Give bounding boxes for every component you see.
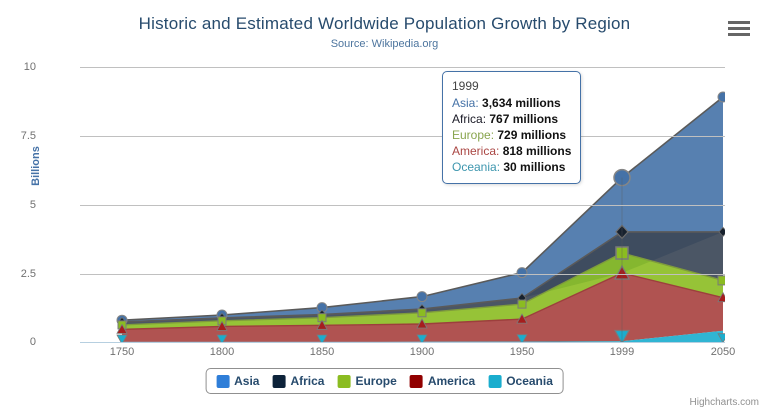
tooltip-row-africa: Africa: 767 millions (452, 111, 571, 127)
legend-item-oceania[interactable]: Oceania (488, 374, 553, 388)
legend-swatch-oceania (488, 375, 501, 388)
point-asia-2050[interactable] (718, 92, 725, 102)
legend-label-africa: Africa (290, 374, 324, 388)
legend-item-europe[interactable]: Europe (337, 374, 396, 388)
y-tick-label: 10 (0, 61, 36, 73)
x-tick-label: 2050 (688, 346, 758, 358)
tooltip-row-america: America: 818 millions (452, 143, 571, 159)
legend-swatch-america (410, 375, 423, 388)
point-asia-1950[interactable] (517, 268, 527, 278)
tooltip-key-oceania: Oceania (452, 160, 497, 174)
tooltip-value-africa: 767 millions (489, 112, 558, 126)
x-tick-label: 1999 (587, 346, 657, 358)
tooltip: 1999 Asia: 3,634 millions Africa: 767 mi… (442, 71, 581, 184)
point-asia-1900[interactable] (417, 292, 427, 302)
hamburger-menu-icon[interactable] (726, 18, 752, 38)
tooltip-key-asia: Asia (452, 96, 475, 110)
legend-label-oceania: Oceania (506, 374, 553, 388)
legend-label-europe: Europe (355, 374, 396, 388)
point-europe-2050[interactable] (718, 276, 725, 285)
x-tick-label: 1800 (187, 346, 257, 358)
menu-bar-2 (728, 27, 750, 30)
gridline-10 (80, 67, 725, 68)
x-tick-label: 1750 (87, 346, 157, 358)
plot-area (80, 67, 725, 342)
gridline-7-5 (80, 136, 725, 137)
legend-swatch-europe (337, 375, 350, 388)
tooltip-row-oceania: Oceania: 30 millions (452, 159, 571, 175)
legend-label-america: America (428, 374, 475, 388)
chart-legend: Asia Africa Europe America Oceania (205, 368, 564, 394)
legend-swatch-asia (216, 375, 229, 388)
tooltip-value-asia: 3,634 millions (482, 96, 561, 110)
tooltip-key-europe: Europe (452, 128, 491, 142)
y-tick-label: 7.5 (0, 130, 36, 142)
tooltip-row-asia: Asia: 3,634 millions (452, 95, 571, 111)
credits-link[interactable]: Highcharts.com (690, 397, 759, 408)
chart-subtitle: Source: Wikipedia.org (0, 38, 769, 50)
gridline-0 (80, 342, 725, 343)
tooltip-header: 1999 (452, 78, 571, 95)
tooltip-value-oceania: 30 millions (503, 160, 565, 174)
menu-bar-3 (728, 33, 750, 36)
tooltip-key-america: America (452, 144, 496, 158)
legend-item-africa[interactable]: Africa (272, 374, 324, 388)
gridline-2-5 (80, 274, 725, 275)
y-tick-label: 5 (0, 199, 36, 211)
y-tick-label: 0 (0, 336, 36, 348)
gridline-5 (80, 205, 725, 206)
legend-label-asia: Asia (234, 374, 259, 388)
point-europe-1900[interactable] (418, 309, 426, 317)
x-tick-label: 1950 (487, 346, 557, 358)
legend-item-america[interactable]: America (410, 374, 475, 388)
tooltip-row-europe: Europe: 729 millions (452, 127, 571, 143)
tooltip-value-europe: 729 millions (497, 128, 566, 142)
legend-item-asia[interactable]: Asia (216, 374, 259, 388)
y-tick-label: 2.5 (0, 268, 36, 280)
point-europe-1950[interactable] (518, 300, 526, 308)
chart-container: Historic and Estimated Worldwide Populat… (0, 0, 769, 416)
legend-swatch-africa (272, 375, 285, 388)
x-tick-label: 1900 (387, 346, 457, 358)
tooltip-key-africa: Africa (452, 112, 483, 126)
tooltip-value-america: 818 millions (503, 144, 572, 158)
chart-title: Historic and Estimated Worldwide Populat… (0, 14, 769, 34)
x-tick-label: 1850 (287, 346, 357, 358)
menu-bar-1 (728, 21, 750, 24)
